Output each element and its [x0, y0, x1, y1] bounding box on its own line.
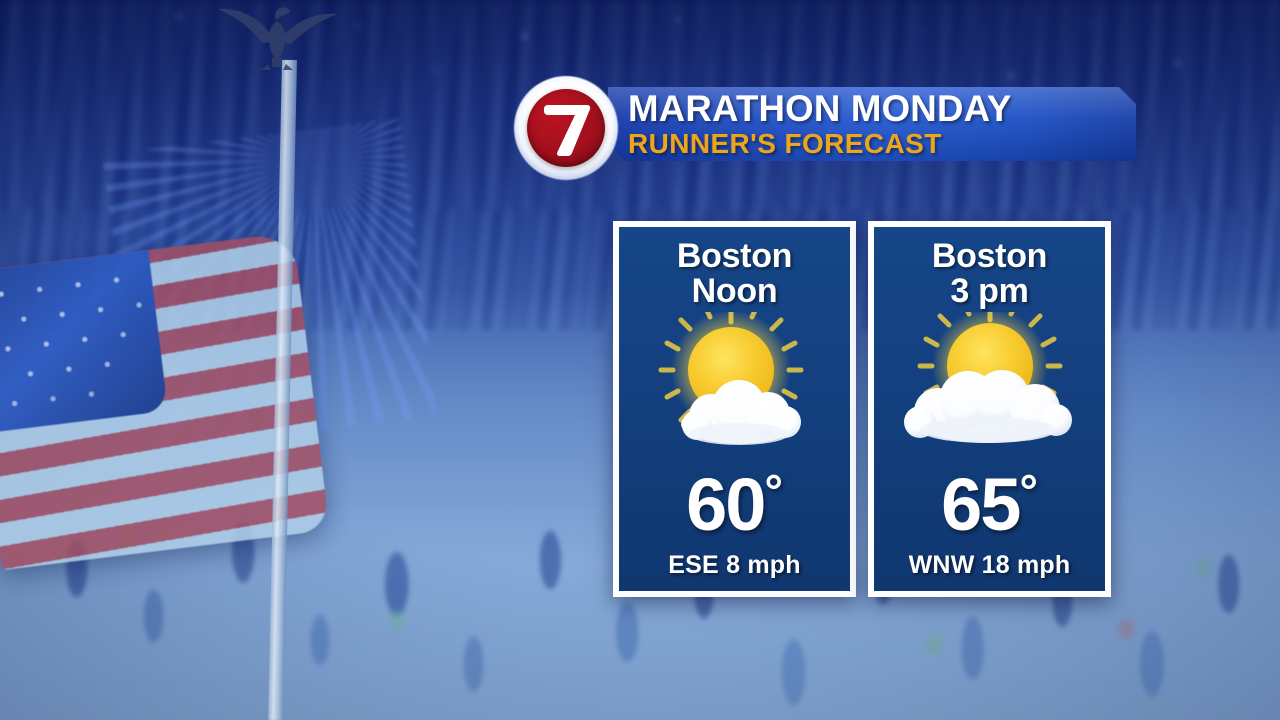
forecast-card-3pm-degree: °: [1019, 465, 1037, 517]
channel-7-logo: [514, 76, 618, 180]
forecast-card-3pm-time: 3 pm: [932, 274, 1047, 309]
seven-glyph-icon: [527, 89, 605, 167]
forecast-card-3pm-body: Boston 3 pm: [874, 227, 1105, 591]
forecast-card-3pm-wind: WNW 18 mph: [874, 551, 1105, 580]
forecast-card-noon-city: Boston: [677, 237, 792, 275]
forecast-card-noon-time: Noon: [677, 274, 792, 309]
forecast-card-noon[interactable]: Boston Noon: [613, 221, 856, 597]
forecast-card-noon-temperature: 60°: [686, 468, 783, 542]
forecast-card-noon-degree: °: [764, 465, 782, 517]
banner-subhead: RUNNER'S FORECAST: [628, 129, 1140, 158]
banner-text-block: MARATHON MONDAY RUNNER'S FORECAST: [628, 88, 1140, 160]
banner-headline: MARATHON MONDAY: [628, 90, 1135, 128]
eagle-icon: [212, 2, 342, 72]
forecast-card-noon-wind: ESE 8 mph: [619, 551, 850, 580]
forecast-card-group: Boston Noon: [613, 221, 1111, 597]
forecast-card-3pm-temp-value: 65: [941, 463, 1019, 546]
title-banner: MARATHON MONDAY RUNNER'S FORECAST: [508, 76, 1148, 180]
forecast-card-3pm-temperature: 65°: [941, 468, 1038, 542]
forecast-card-noon-body: Boston Noon: [619, 227, 850, 591]
forecast-card-noon-temp-value: 60: [686, 463, 764, 546]
forecast-card-3pm-title: Boston 3 pm: [932, 239, 1047, 308]
forecast-card-3pm-city: Boston: [932, 237, 1047, 275]
sun-behind-cloud-icon: [635, 312, 835, 462]
flag-canton-stars: [0, 250, 168, 432]
american-flag: [0, 160, 357, 629]
weather-graphic-stage: MARATHON MONDAY RUNNER'S FORECAST Boston…: [0, 0, 1280, 720]
forecast-card-noon-title: Boston Noon: [677, 239, 792, 308]
sun-behind-large-cloud-icon: [890, 312, 1090, 462]
forecast-card-3pm[interactable]: Boston 3 pm: [868, 221, 1111, 597]
